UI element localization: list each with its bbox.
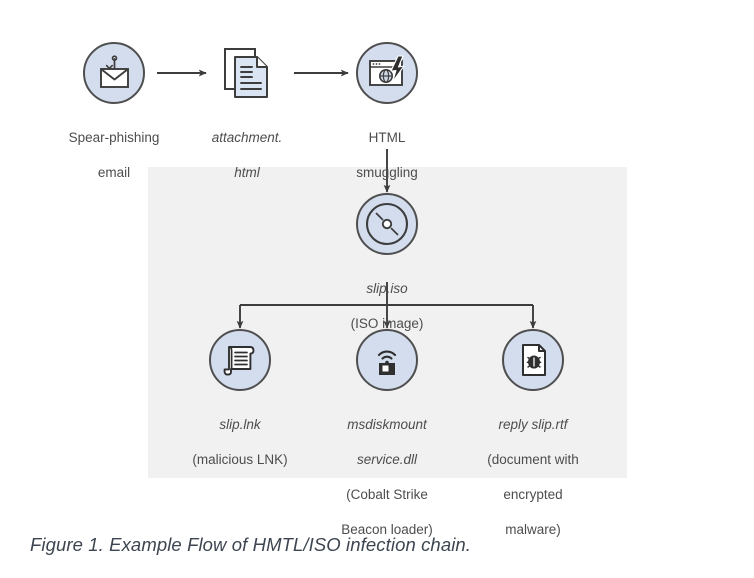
figure-container: Spear-phishing email attac bbox=[0, 0, 754, 578]
node-slip-iso[interactable]: slip.iso (ISO image) bbox=[327, 193, 447, 350]
disc-icon bbox=[356, 193, 418, 255]
node-spear-phishing-email[interactable]: Spear-phishing email bbox=[52, 42, 176, 199]
node-label-html-smuggling: HTML smuggling bbox=[326, 111, 448, 199]
node-label-reply-slip-rtf: reply slip.rtf (document with encrypted … bbox=[464, 398, 602, 556]
documents-stack-icon bbox=[216, 42, 278, 104]
node-html-smuggling[interactable]: HTML smuggling bbox=[326, 42, 448, 199]
scroll-icon bbox=[209, 329, 271, 391]
browser-globe-bolt-icon bbox=[356, 42, 418, 104]
node-attachment-html[interactable]: attachment. html bbox=[188, 42, 306, 199]
node-label-msdiskmount: msdiskmount service.dll (Cobalt Strike B… bbox=[318, 398, 456, 556]
figure-caption: Figure 1. Example Flow of HMTL/ISO infec… bbox=[30, 534, 471, 556]
node-label-attachment: attachment. html bbox=[188, 111, 306, 199]
node-reply-slip-rtf[interactable]: reply slip.rtf (document with encrypted … bbox=[464, 329, 602, 556]
node-msdiskmount-service-dll[interactable]: msdiskmount service.dll (Cobalt Strike B… bbox=[318, 329, 456, 556]
envelope-hook-icon bbox=[83, 42, 145, 104]
document-bug-icon bbox=[502, 329, 564, 391]
node-label-spear-phishing: Spear-phishing email bbox=[52, 111, 176, 199]
node-slip-lnk[interactable]: slip.lnk (malicious LNK) bbox=[172, 329, 308, 486]
node-label-slip-lnk: slip.lnk (malicious LNK) bbox=[172, 398, 308, 486]
beacon-signal-icon bbox=[356, 329, 418, 391]
